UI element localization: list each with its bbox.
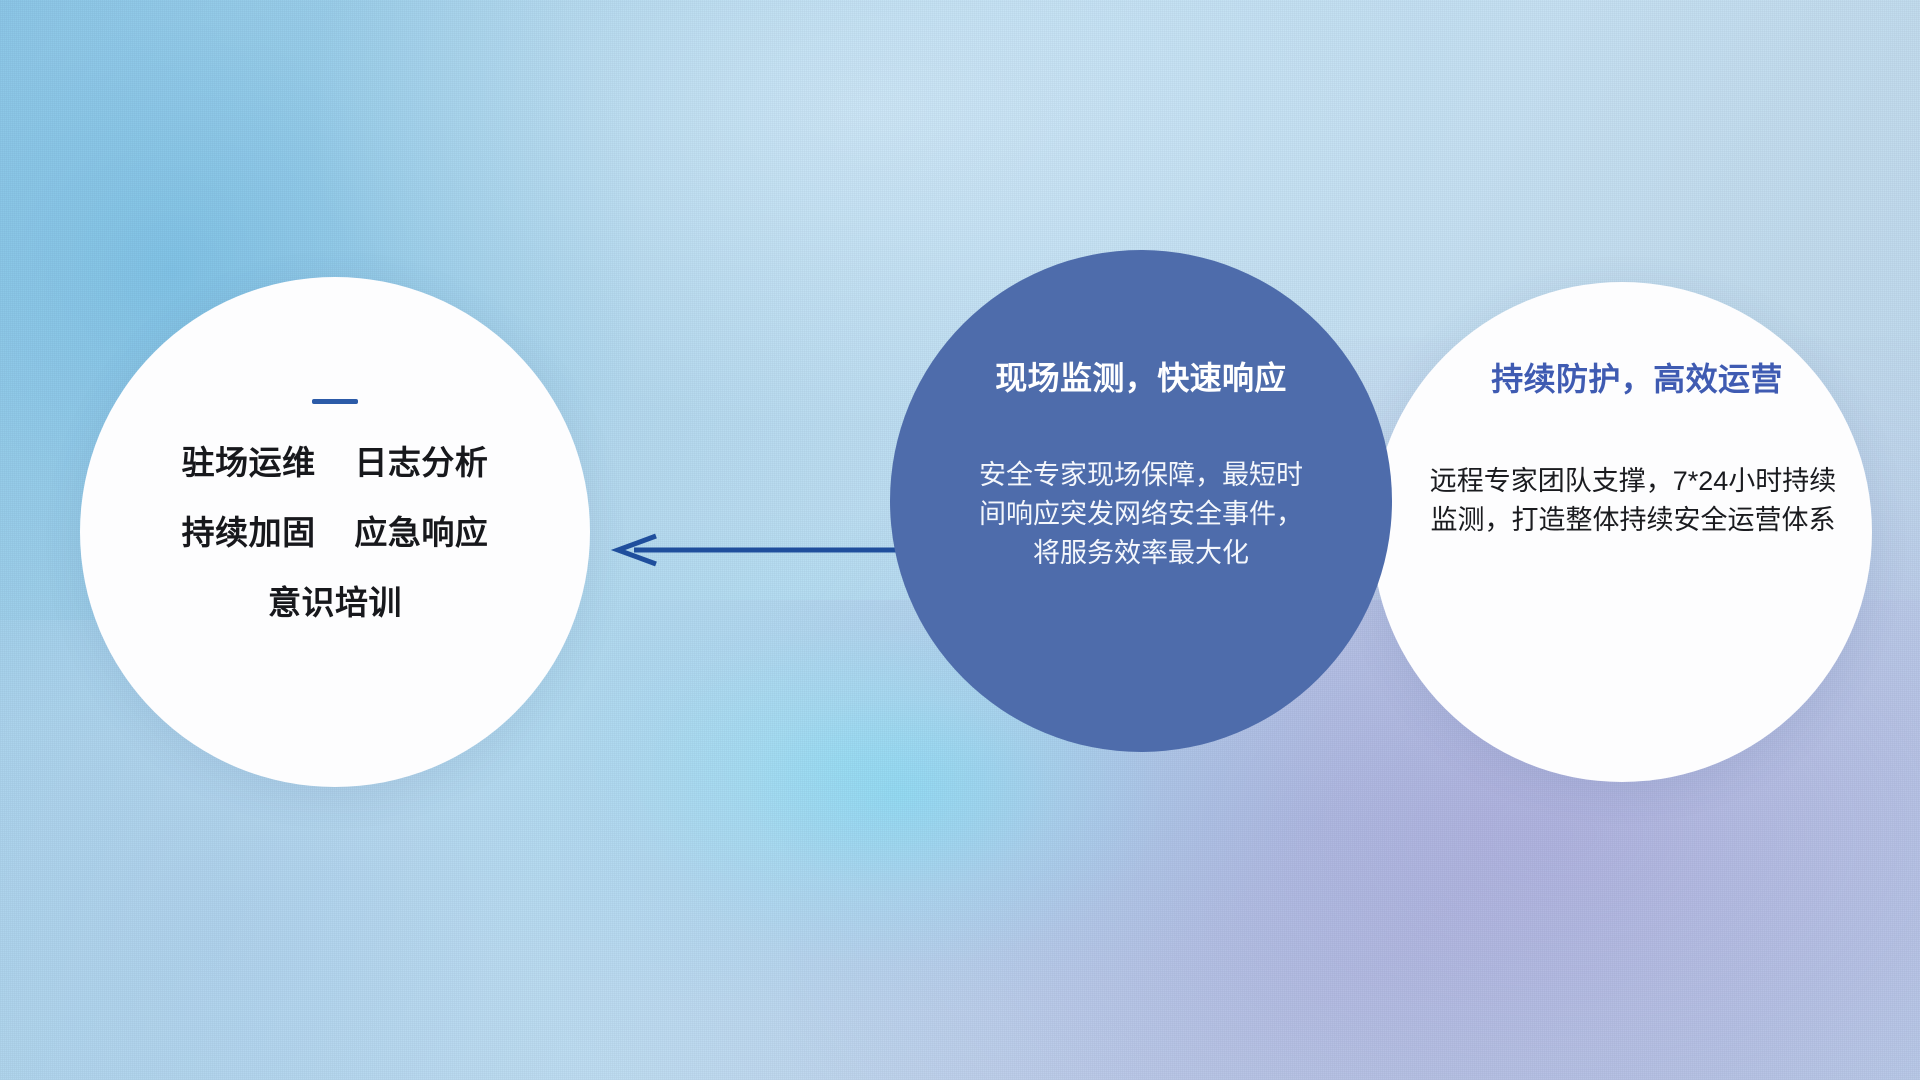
onsite-monitoring-body: 安全专家现场保障，最短时间响应突发网络安全事件，将服务效率最大化 (976, 456, 1306, 573)
flow-arrow (600, 520, 900, 580)
capability-row-2: 持续加固 应急响应 (182, 516, 489, 549)
continuous-protection-title: 持续防护，高效运营 (1461, 354, 1783, 400)
onsite-monitoring-title: 现场监测，快速响应 (995, 353, 1287, 399)
arrow-right-to-left-icon (600, 520, 900, 580)
slide-canvas: 驻场运维 日志分析 持续加固 应急响应 意识培训 持续防护，高效运营 远程专家团… (0, 0, 1920, 1080)
capability-row-3: 意识培训 (182, 586, 489, 619)
continuous-protection-body: 远程专家团队支撑，7*24小时持续监测，打造整体持续安全运营体系 (1407, 462, 1837, 540)
divider-dash-icon (312, 399, 358, 404)
capability-list: 驻场运维 日志分析 持续加固 应急响应 意识培训 (182, 446, 489, 619)
onsite-monitoring-circle: 现场监测，快速响应 安全专家现场保障，最短时间响应突发网络安全事件，将服务效率最… (890, 250, 1392, 752)
capability-row-1: 驻场运维 日志分析 (182, 446, 489, 479)
continuous-protection-circle: 持续防护，高效运营 远程专家团队支撑，7*24小时持续监测，打造整体持续安全运营… (1372, 282, 1872, 782)
capability-circle: 驻场运维 日志分析 持续加固 应急响应 意识培训 (80, 277, 590, 787)
